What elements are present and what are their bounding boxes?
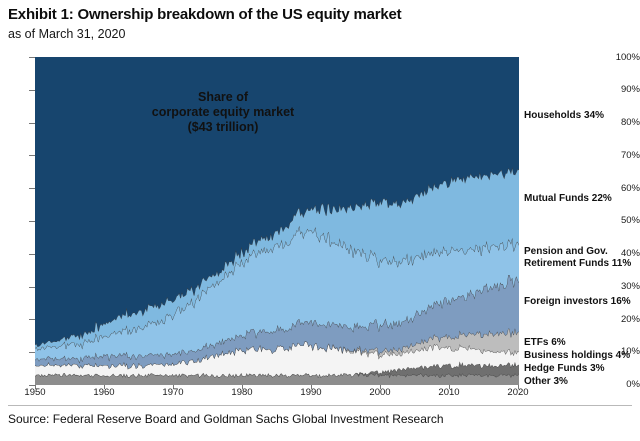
x-tick-1970: 1970 — [153, 388, 193, 398]
x-tick-1950: 1950 — [15, 388, 55, 398]
series-label-hedge: Hedge Funds 3% — [524, 363, 605, 375]
page-title: Exhibit 1: Ownership breakdown of the US… — [8, 6, 401, 23]
x-tick-2010: 2010 — [429, 388, 469, 398]
x-tick-1960: 1960 — [84, 388, 124, 398]
annotation-line-3: ($43 trillion) — [108, 120, 338, 135]
series-label-etfs: ETFs 6% — [524, 337, 566, 349]
x-tick-1990: 1990 — [291, 388, 331, 398]
y-tick-50: 50% — [606, 216, 640, 225]
y-tick-30: 30% — [606, 282, 640, 291]
footer-divider — [8, 405, 632, 406]
series-label-business: Business holdings 4% — [524, 350, 630, 362]
series-label-pension-line-1: Pension and Gov. — [524, 246, 608, 257]
annotation-line-1: Share of — [108, 90, 338, 105]
series-label-foreign: Foreign investors 16% — [524, 296, 631, 308]
y-tick-80: 80% — [606, 118, 640, 127]
y-tick-0: 0% — [606, 380, 640, 389]
source-note: Source: Federal Reserve Board and Goldma… — [8, 412, 444, 426]
y-tick-60: 60% — [606, 184, 640, 193]
y-tick-100: 100% — [606, 53, 640, 62]
chart-figure: Exhibit 1: Ownership breakdown of the US… — [0, 0, 640, 441]
y-tick-70: 70% — [606, 151, 640, 160]
x-tick-2000: 2000 — [360, 388, 400, 398]
series-label-pension-line-2: Retirement Funds 11% — [524, 258, 631, 269]
x-tick-1980: 1980 — [222, 388, 262, 398]
x-tick-2020: 2020 — [498, 388, 538, 398]
series-label-households: Households 34% — [524, 110, 604, 122]
series-label-other: Other 3% — [524, 376, 568, 388]
series-label-mutual-funds: Mutual Funds 22% — [524, 193, 612, 205]
annotation-line-2: corporate equity market — [108, 105, 338, 120]
chart-annotation: Share of corporate equity market ($43 tr… — [108, 90, 338, 135]
y-tick-90: 90% — [606, 85, 640, 94]
page-subtitle: as of March 31, 2020 — [8, 27, 125, 41]
series-label-pension: Pension and Gov. Retirement Funds 11% — [524, 246, 631, 269]
y-tick-20: 20% — [606, 315, 640, 324]
